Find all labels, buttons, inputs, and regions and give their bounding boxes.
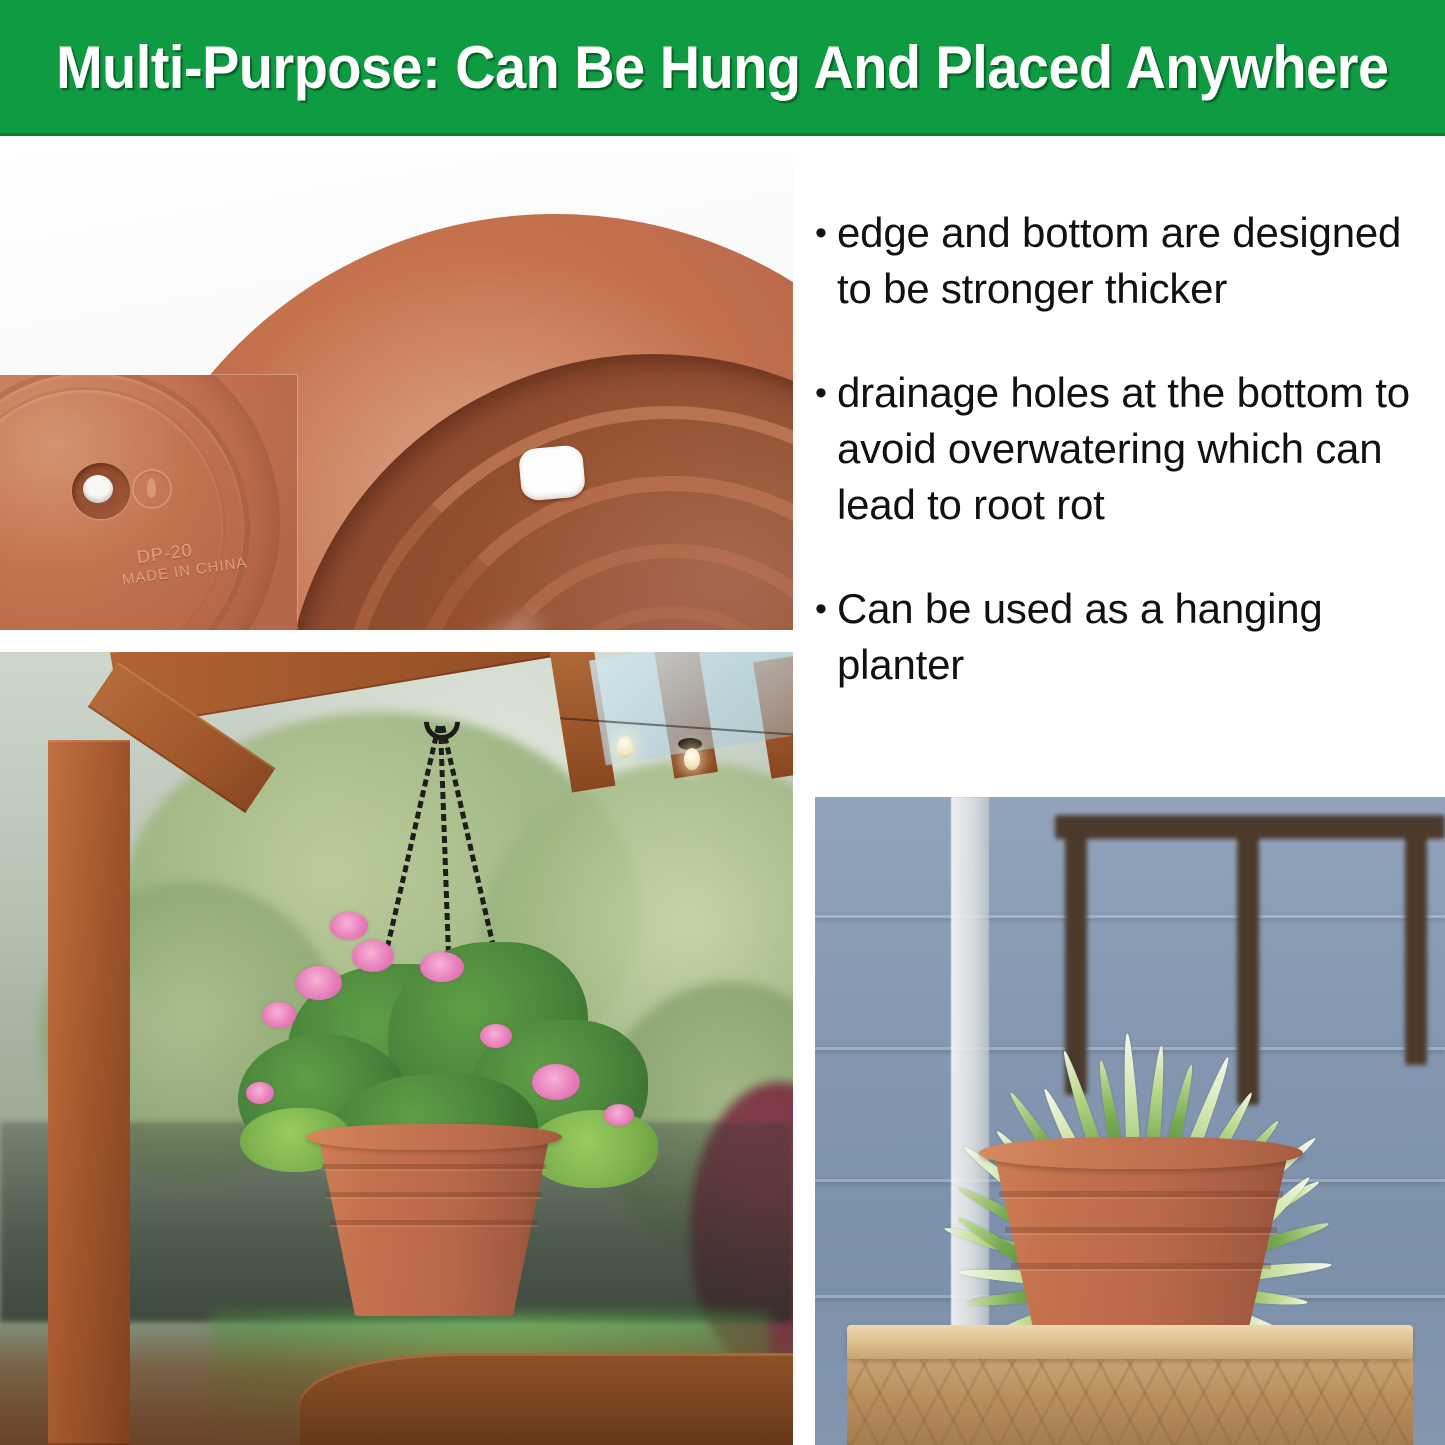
pink-flower-9 [330, 912, 368, 940]
pink-flower-6 [480, 1024, 512, 1048]
pink-flower-4 [262, 1002, 296, 1028]
pot-bottom-detail-inset: DP-20 MADE IN CHINA [0, 375, 297, 630]
pink-flower-2 [352, 940, 394, 972]
pink-flower-3 [420, 952, 464, 982]
pink-flower-7 [246, 1082, 274, 1104]
pot2-rib-2 [1005, 1227, 1277, 1233]
tabletop-planter-rim [979, 1137, 1303, 1169]
bullet-icon: • [815, 365, 837, 421]
pot-rib-3 [330, 1220, 538, 1225]
wooden-stool-grain [847, 1359, 1413, 1445]
feature-text-3: Can be used as a hanging planter [837, 581, 1445, 693]
pink-flower-1 [296, 966, 342, 1000]
string-light-bulb-2 [684, 748, 700, 770]
list-item: • edge and bottom are designed to be str… [815, 205, 1445, 317]
hanging-planter-pot [318, 1134, 550, 1316]
drainage-hole [72, 463, 130, 519]
pink-flower-8 [604, 1104, 634, 1126]
pink-flower-5 [532, 1064, 580, 1100]
recycling-emboss-icon [132, 469, 172, 509]
hanging-planter-scene-photo [0, 652, 793, 1445]
hanging-hole [518, 444, 586, 501]
deck-edge [300, 1353, 793, 1445]
pot-rib-1 [322, 1164, 546, 1169]
feature-text-2: drainage holes at the bottom to avoid ov… [837, 365, 1445, 533]
bullet-icon: • [815, 205, 837, 261]
header-banner: Multi-Purpose: Can Be Hung And Placed An… [0, 0, 1445, 136]
string-light-bulb-1 [617, 736, 633, 758]
bullet-icon: • [815, 581, 837, 637]
pergola-post [48, 740, 130, 1445]
pot2-rib-1 [999, 1191, 1283, 1197]
page-title: Multi-Purpose: Can Be Hung And Placed An… [56, 38, 1388, 98]
hanging-planter-rim [306, 1124, 562, 1150]
tabletop-planter-scene-photo [815, 797, 1445, 1445]
pot2-rib-3 [1011, 1263, 1271, 1269]
feature-bullet-list: • edge and bottom are designed to be str… [815, 205, 1445, 725]
pot-rib-2 [326, 1192, 542, 1197]
list-item: • drainage holes at the bottom to avoid … [815, 365, 1445, 533]
light-foliage-1 [528, 1110, 658, 1188]
wooden-stool-top [847, 1325, 1413, 1359]
infographic-page: Multi-Purpose: Can Be Hung And Placed An… [0, 0, 1445, 1445]
feature-text-1: edge and bottom are designed to be stron… [837, 205, 1445, 317]
list-item: • Can be used as a hanging planter [815, 581, 1445, 693]
